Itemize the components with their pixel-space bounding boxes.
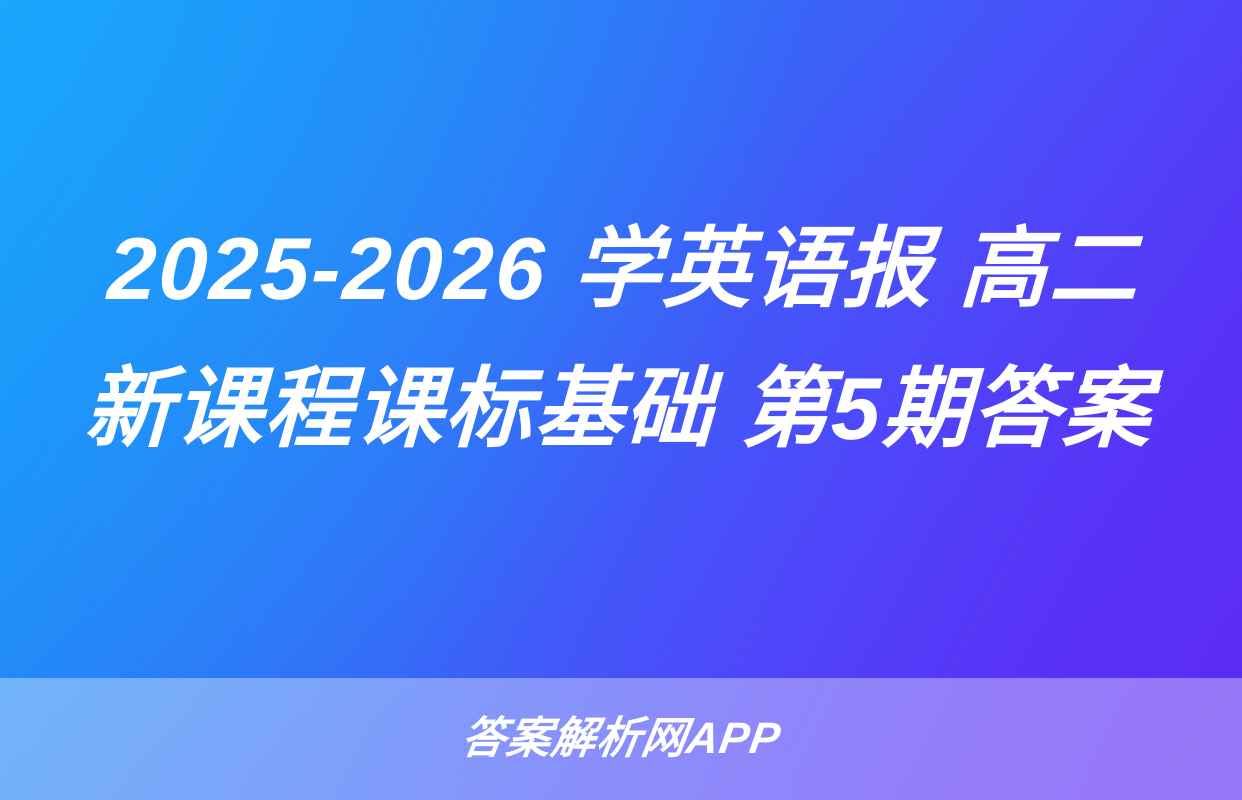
app-name-label: 答案解析网APP [458,714,784,764]
promo-banner: 2025-2026 学英语报 高二 新课程课标基础 第5期答案 答案解析网APP [0,0,1242,800]
app-footer-bar: 答案解析网APP [0,678,1242,800]
page-title: 2025-2026 学英语报 高二 新课程课标基础 第5期答案 [53,199,1189,479]
title-area: 2025-2026 学英语报 高二 新课程课标基础 第5期答案 [0,0,1242,678]
